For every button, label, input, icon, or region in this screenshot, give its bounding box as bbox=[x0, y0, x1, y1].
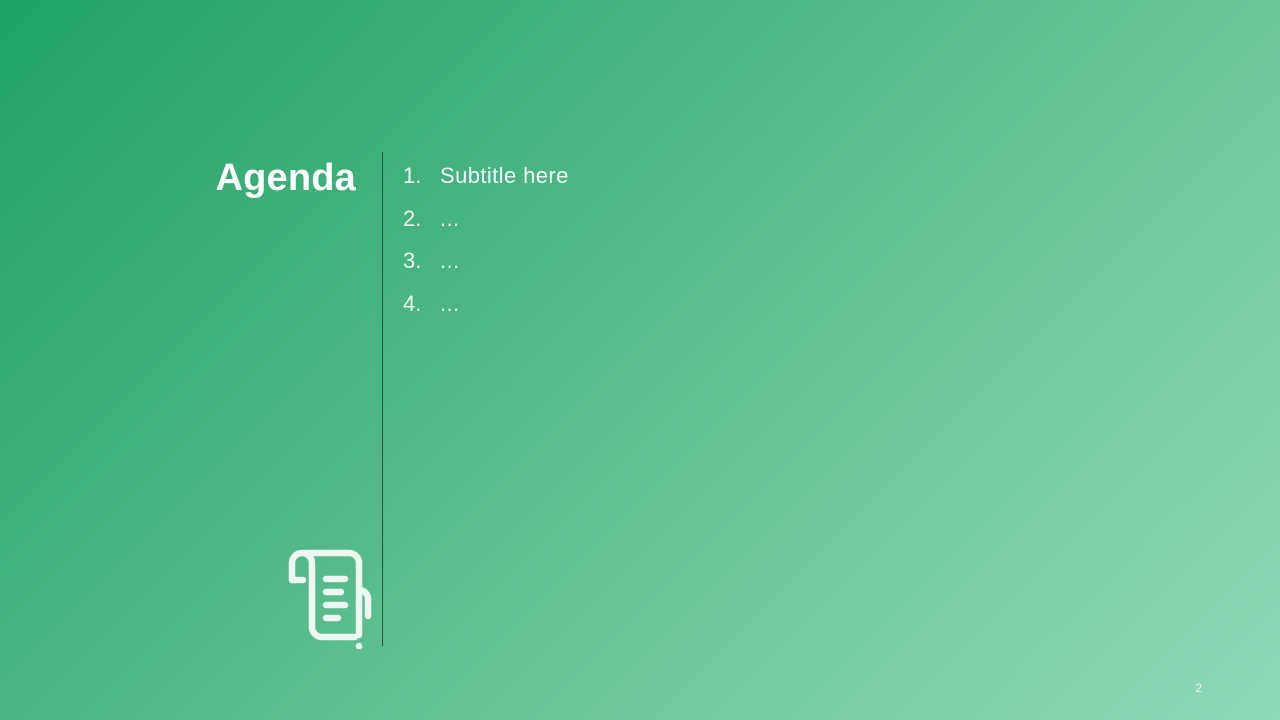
list-item-label: Subtitle here bbox=[440, 163, 569, 189]
agenda-list: 1. Subtitle here 2. ... 3. ... 4. ... bbox=[403, 163, 1103, 333]
page-title: Agenda bbox=[0, 158, 356, 200]
list-item[interactable]: 3. ... bbox=[403, 248, 1103, 291]
list-item-number: 4. bbox=[403, 291, 440, 317]
list-item-number: 1. bbox=[403, 163, 440, 189]
page-number: 2 bbox=[1195, 681, 1202, 695]
list-item-number: 2. bbox=[403, 206, 440, 232]
scroll-document-icon bbox=[270, 541, 374, 649]
list-item-label: ... bbox=[440, 248, 460, 274]
list-item-label: ... bbox=[440, 291, 460, 317]
list-item-number: 3. bbox=[403, 248, 440, 274]
list-item[interactable]: 4. ... bbox=[403, 291, 1103, 334]
title-block: Agenda bbox=[0, 158, 356, 200]
list-item[interactable]: 1. Subtitle here bbox=[403, 163, 1103, 206]
list-item-label: ... bbox=[440, 206, 460, 232]
slide-canvas: Agenda 1. Subtitle here 2. ... 3. ... 4.… bbox=[0, 0, 1280, 720]
list-item[interactable]: 2. ... bbox=[403, 206, 1103, 249]
vertical-divider bbox=[382, 152, 383, 646]
